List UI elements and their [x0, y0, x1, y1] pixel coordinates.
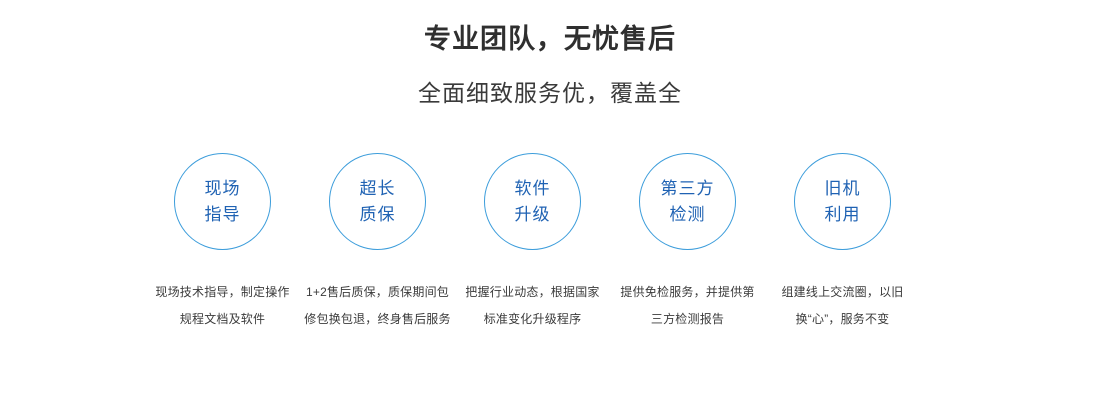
service-promo-section: 专业团队，无忧售后 全面细致服务优，覆盖全 现场 指导 现场技术指导，制定操作 …: [0, 0, 1100, 404]
feature-item-extended-warranty[interactable]: 超长 质保 1+2售后质保，质保期间包 修包换包退，终身售后服务: [300, 150, 455, 333]
feature-circle-line-2: 质保: [360, 202, 396, 228]
feature-circle[interactable]: 现场 指导: [174, 153, 271, 250]
feature-circle-line-1: 软件: [515, 176, 551, 202]
feature-caption-line-1: 现场技术指导，制定操作: [145, 279, 300, 306]
feature-caption: 把握行业动态，根据国家 标准变化升级程序: [455, 279, 610, 333]
feature-caption: 组建线上交流圈，以旧 换“心”，服务不变: [765, 279, 920, 333]
feature-caption-line-2: 规程文档及软件: [145, 306, 300, 333]
feature-item-onsite-guidance[interactable]: 现场 指导 现场技术指导，制定操作 规程文档及软件: [145, 150, 300, 333]
feature-caption-line-2: 换“心”，服务不变: [765, 306, 920, 333]
feature-caption-line-2: 修包换包退，终身售后服务: [300, 306, 455, 333]
feature-circle-line-1: 超长: [360, 176, 396, 202]
feature-item-software-upgrade[interactable]: 软件 升级 把握行业动态，根据国家 标准变化升级程序: [455, 150, 610, 333]
feature-circle[interactable]: 超长 质保: [329, 153, 426, 250]
feature-caption-line-1: 把握行业动态，根据国家: [455, 279, 610, 306]
feature-circle-line-2: 检测: [670, 202, 706, 228]
feature-circle[interactable]: 第三方 检测: [639, 153, 736, 250]
feature-item-old-machine-reuse[interactable]: 旧机 利用 组建线上交流圈，以旧 换“心”，服务不变: [765, 150, 920, 333]
feature-item-third-party-inspection[interactable]: 第三方 检测 提供免检服务，并提供第 三方检测报告: [610, 150, 765, 333]
feature-caption-line-1: 组建线上交流圈，以旧: [765, 279, 920, 306]
feature-circle-line-2: 指导: [205, 202, 241, 228]
heading-block: 专业团队，无忧售后 全面细致服务优，覆盖全: [0, 22, 1100, 108]
feature-caption: 1+2售后质保，质保期间包 修包换包退，终身售后服务: [300, 279, 455, 333]
feature-circle-line-1: 第三方: [661, 176, 715, 202]
feature-caption-line-2: 三方检测报告: [610, 306, 765, 333]
feature-caption: 提供免检服务，并提供第 三方检测报告: [610, 279, 765, 333]
feature-caption-line-2: 标准变化升级程序: [455, 306, 610, 333]
feature-caption: 现场技术指导，制定操作 规程文档及软件: [145, 279, 300, 333]
feature-list: 现场 指导 现场技术指导，制定操作 规程文档及软件 超长 质保 1+2售后质保，…: [0, 150, 1100, 350]
feature-circle-line-2: 升级: [515, 202, 551, 228]
feature-circle-line-1: 现场: [205, 176, 241, 202]
feature-circle-line-2: 利用: [825, 202, 861, 228]
feature-circle-line-1: 旧机: [825, 176, 861, 202]
page-subtitle: 全面细致服务优，覆盖全: [0, 78, 1100, 108]
feature-caption-line-1: 1+2售后质保，质保期间包: [300, 279, 455, 306]
page-title: 专业团队，无忧售后: [0, 22, 1100, 56]
feature-circle[interactable]: 软件 升级: [484, 153, 581, 250]
feature-circle[interactable]: 旧机 利用: [794, 153, 891, 250]
feature-caption-line-1: 提供免检服务，并提供第: [610, 279, 765, 306]
